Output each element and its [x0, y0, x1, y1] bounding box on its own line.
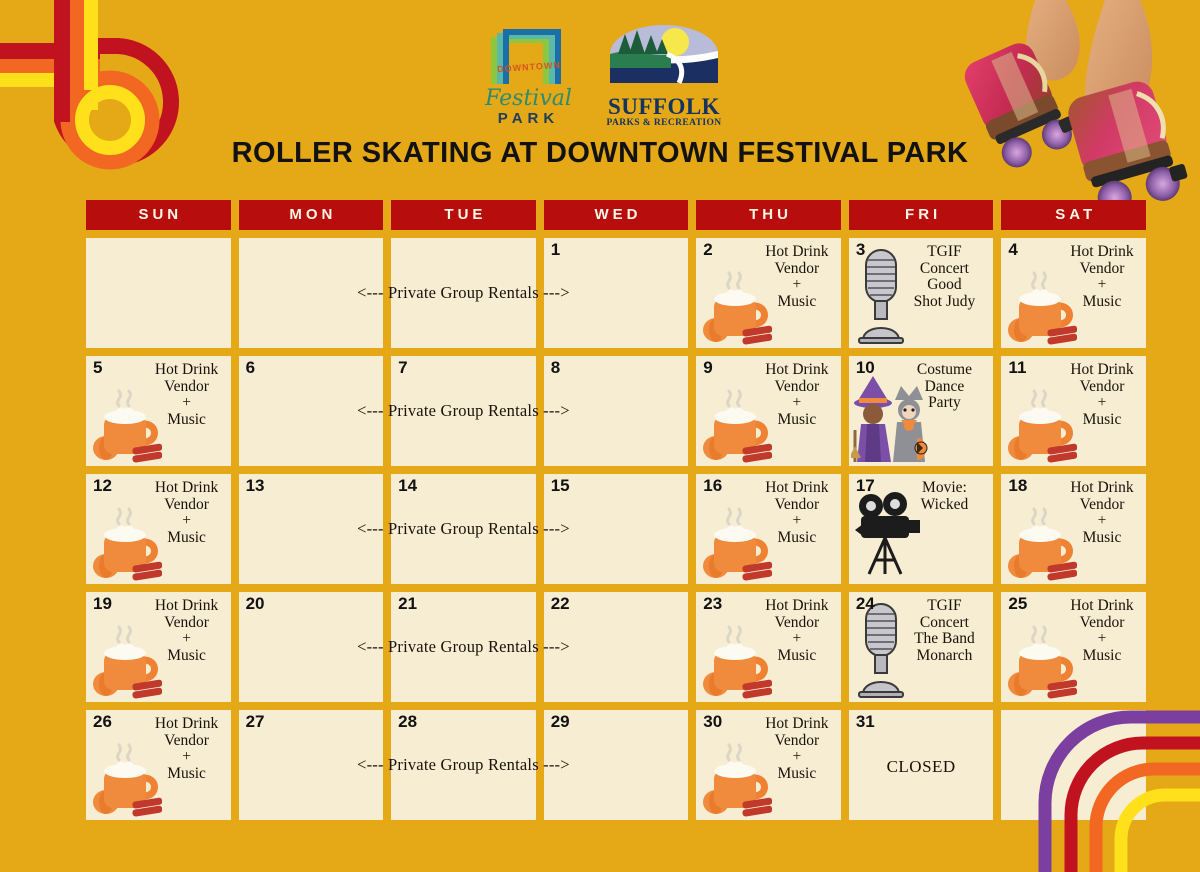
- event-line: Dance: [898, 379, 990, 396]
- event-line: Hot Drink: [1064, 480, 1140, 497]
- event-line: +: [149, 395, 225, 412]
- private-group-rentals-banner: <--- Private Group Rentals --->: [239, 710, 689, 820]
- day-number: 26: [93, 713, 112, 732]
- event-line: Wicked: [898, 497, 990, 514]
- event-line: Hot Drink: [149, 716, 225, 733]
- event-line: Monarch: [898, 648, 990, 665]
- private-group-rentals-label: <--- Private Group Rentals --->: [239, 592, 689, 702]
- event-line: TGIF: [898, 244, 990, 261]
- calendar-day-empty[interactable]: [1001, 710, 1146, 820]
- calendar-day-2[interactable]: 2 Hot DrinkVendor+Music: [696, 238, 841, 348]
- calendar-week-row: 5 Hot DrinkVendor+Music6789: [86, 356, 1146, 466]
- event-text: Movie:Wicked: [898, 480, 990, 513]
- day-number: 31: [856, 713, 875, 732]
- day-number: 16: [703, 477, 722, 496]
- event-line: The Band: [898, 631, 990, 648]
- event-line: Vendor: [1064, 497, 1140, 514]
- calendar-day-23[interactable]: 23 Hot DrinkVendor+Music: [696, 592, 841, 702]
- event-line: Concert: [898, 261, 990, 278]
- event-line: +: [1064, 513, 1140, 530]
- event-line: Vendor: [1064, 615, 1140, 632]
- suffolk-sub-text: PARKS & RECREATION: [602, 118, 727, 128]
- day-number: 24: [856, 595, 875, 614]
- event-line: Music: [759, 766, 835, 783]
- event-line: Music: [149, 412, 225, 429]
- day-header-wed: WED: [544, 200, 689, 230]
- event-line: Vendor: [759, 733, 835, 750]
- calendar-day-5[interactable]: 5 Hot DrinkVendor+Music: [86, 356, 231, 466]
- calendar-day-26[interactable]: 26 Hot DrinkVendor+Music: [86, 710, 231, 820]
- calendar-day-25[interactable]: 25 Hot DrinkVendor+Music: [1001, 592, 1146, 702]
- event-text: Hot DrinkVendor+Music: [1064, 480, 1140, 546]
- suffolk-emblem-icon: [609, 24, 719, 88]
- day-header-mon: MON: [239, 200, 384, 230]
- calendar-day-12[interactable]: 12 Hot DrinkVendor+Music: [86, 474, 231, 584]
- private-group-rentals-banner: <--- Private Group Rentals --->: [239, 474, 689, 584]
- day-number: 9: [703, 359, 712, 378]
- event-line: +: [759, 395, 835, 412]
- event-line: Hot Drink: [149, 598, 225, 615]
- event-line: +: [759, 749, 835, 766]
- private-group-rentals-label: <--- Private Group Rentals --->: [239, 238, 689, 348]
- calendar-day-empty[interactable]: [86, 238, 231, 348]
- day-header-tue: TUE: [391, 200, 536, 230]
- event-line: TGIF: [898, 598, 990, 615]
- calendar-week-row: 12 Hot DrinkVendor+Music13141516: [86, 474, 1146, 584]
- calendar-day-16[interactable]: 16 Hot DrinkVendor+Music: [696, 474, 841, 584]
- event-text: Hot DrinkVendor+Music: [759, 598, 835, 664]
- day-number: 25: [1008, 595, 1027, 614]
- private-group-rentals-banner: <--- Private Group Rentals --->: [239, 592, 689, 702]
- page-title: ROLLER SKATING AT DOWNTOWN FESTIVAL PARK: [0, 137, 1200, 170]
- event-text: Hot DrinkVendor+Music: [1064, 244, 1140, 310]
- private-group-rentals-banner: <--- Private Group Rentals --->: [239, 238, 689, 348]
- dfp-festival-text: Festival: [474, 88, 584, 110]
- day-header-sun: SUN: [86, 200, 231, 230]
- suffolk-name-text: SUFFOLK: [602, 95, 727, 118]
- calendar-day-4[interactable]: 4 Hot DrinkVendor+Music: [1001, 238, 1146, 348]
- day-number: 23: [703, 595, 722, 614]
- day-number: 12: [93, 477, 112, 496]
- event-line: +: [1064, 631, 1140, 648]
- day-number: 11: [1008, 359, 1026, 378]
- event-line: Vendor: [759, 261, 835, 278]
- event-line: Hot Drink: [759, 480, 835, 497]
- event-line: Music: [759, 648, 835, 665]
- day-number: 17: [856, 477, 875, 496]
- event-line: Hot Drink: [759, 362, 835, 379]
- event-line: +: [1064, 395, 1140, 412]
- day-header-fri: FRI: [849, 200, 994, 230]
- event-line: Vendor: [149, 615, 225, 632]
- event-line: Hot Drink: [759, 598, 835, 615]
- event-text: TGIFConcertThe BandMonarch: [898, 598, 990, 664]
- calendar-week-row: 12 Hot DrinkVendor+Music3: [86, 238, 1146, 348]
- event-text: Hot DrinkVendor+Music: [1064, 362, 1140, 428]
- event-line: Vendor: [759, 379, 835, 396]
- event-line: +: [149, 631, 225, 648]
- calendar-week-row: 19 Hot DrinkVendor+Music20212223: [86, 592, 1146, 702]
- calendar-day-19[interactable]: 19 Hot DrinkVendor+Music: [86, 592, 231, 702]
- calendar-day-3[interactable]: 3 TGIFConcertGoodShot Judy: [849, 238, 994, 348]
- event-text: Hot DrinkVendor+Music: [149, 480, 225, 546]
- event-text: CostumeDanceParty: [898, 362, 990, 412]
- event-line: Music: [1064, 530, 1140, 547]
- calendar-day-11[interactable]: 11 Hot DrinkVendor+Music: [1001, 356, 1146, 466]
- event-line: Music: [1064, 294, 1140, 311]
- day-number: 30: [703, 713, 722, 732]
- event-line: Vendor: [1064, 379, 1140, 396]
- event-text: Hot DrinkVendor+Music: [759, 244, 835, 310]
- event-line: Good: [898, 277, 990, 294]
- calendar-week-row: 26 Hot DrinkVendor+Music27282930: [86, 710, 1146, 820]
- event-line: +: [149, 749, 225, 766]
- calendar-day-10[interactable]: 10 CostumeDanceParty: [849, 356, 994, 466]
- day-number: 19: [93, 595, 112, 614]
- event-text: Hot DrinkVendor+Music: [759, 362, 835, 428]
- event-line: Vendor: [149, 733, 225, 750]
- event-line: Vendor: [759, 615, 835, 632]
- event-text: Hot DrinkVendor+Music: [149, 716, 225, 782]
- event-text: Hot DrinkVendor+Music: [759, 480, 835, 546]
- header-logos: DOWNTOWN Festival PARK SUFFOLK PARKS & R…: [0, 24, 1200, 134]
- event-line: Hot Drink: [1064, 362, 1140, 379]
- day-number: 2: [703, 241, 712, 260]
- event-line: Party: [898, 395, 990, 412]
- private-group-rentals-label: <--- Private Group Rentals --->: [239, 356, 689, 466]
- event-line: +: [149, 513, 225, 530]
- calendar-day-18[interactable]: 18 Hot DrinkVendor+Music: [1001, 474, 1146, 584]
- calendar-grid: SUNMONTUEWEDTHUFRISAT 12 Hot DrinkVendor…: [86, 200, 1146, 828]
- arch-icon: [474, 24, 584, 86]
- calendar-day-17[interactable]: 17 Movie:Wicked: [849, 474, 994, 584]
- event-text: Hot DrinkVendor+Music: [1064, 598, 1140, 664]
- day-of-week-header-row: SUNMONTUEWEDTHUFRISAT: [86, 200, 1146, 230]
- private-group-rentals-label: <--- Private Group Rentals --->: [239, 710, 689, 820]
- event-line: +: [1064, 277, 1140, 294]
- calendar-day-9[interactable]: 9 Hot DrinkVendor+Music: [696, 356, 841, 466]
- event-line: Concert: [898, 615, 990, 632]
- event-line: +: [759, 277, 835, 294]
- downtown-festival-park-logo: DOWNTOWN Festival PARK: [474, 24, 584, 127]
- event-line: Music: [149, 648, 225, 665]
- event-line: +: [759, 513, 835, 530]
- event-line: +: [759, 631, 835, 648]
- event-line: Music: [1064, 648, 1140, 665]
- private-group-rentals-banner: <--- Private Group Rentals --->: [239, 356, 689, 466]
- event-text: Hot DrinkVendor+Music: [759, 716, 835, 782]
- day-number: 10: [856, 359, 875, 378]
- day-number: 4: [1008, 241, 1017, 260]
- event-line: Music: [759, 412, 835, 429]
- event-line: Hot Drink: [759, 244, 835, 261]
- day-number: 3: [856, 241, 865, 260]
- event-line: Hot Drink: [149, 362, 225, 379]
- event-line: Vendor: [149, 497, 225, 514]
- event-line: Vendor: [149, 379, 225, 396]
- event-text: Hot DrinkVendor+Music: [149, 598, 225, 664]
- event-line: Vendor: [759, 497, 835, 514]
- dfp-park-text: PARK: [474, 110, 584, 127]
- event-line: Hot Drink: [149, 480, 225, 497]
- event-line: Movie:: [898, 480, 990, 497]
- event-line: Music: [1064, 412, 1140, 429]
- event-line: Hot Drink: [759, 716, 835, 733]
- event-line: Costume: [898, 362, 990, 379]
- calendar-day-31[interactable]: 31CLOSED: [849, 710, 994, 820]
- day-number: 18: [1008, 477, 1027, 496]
- calendar-day-24[interactable]: 24 TGIFConcertThe BandMonarch: [849, 592, 994, 702]
- day-header-sat: SAT: [1001, 200, 1146, 230]
- suffolk-parks-rec-logo: SUFFOLK PARKS & RECREATION: [602, 24, 727, 128]
- event-line: Shot Judy: [898, 294, 990, 311]
- event-line: Music: [149, 530, 225, 547]
- event-line: Hot Drink: [1064, 598, 1140, 615]
- event-line: Hot Drink: [1064, 244, 1140, 261]
- event-line: Music: [759, 294, 835, 311]
- event-line: Vendor: [1064, 261, 1140, 278]
- calendar-day-30[interactable]: 30 Hot DrinkVendor+Music: [696, 710, 841, 820]
- private-group-rentals-label: <--- Private Group Rentals --->: [239, 474, 689, 584]
- event-line: Music: [759, 530, 835, 547]
- event-text: Hot DrinkVendor+Music: [149, 362, 225, 428]
- day-header-thu: THU: [696, 200, 841, 230]
- closed-label: CLOSED: [849, 757, 994, 777]
- day-number: 5: [93, 359, 102, 378]
- event-text: TGIFConcertGoodShot Judy: [898, 244, 990, 310]
- event-line: Music: [149, 766, 225, 783]
